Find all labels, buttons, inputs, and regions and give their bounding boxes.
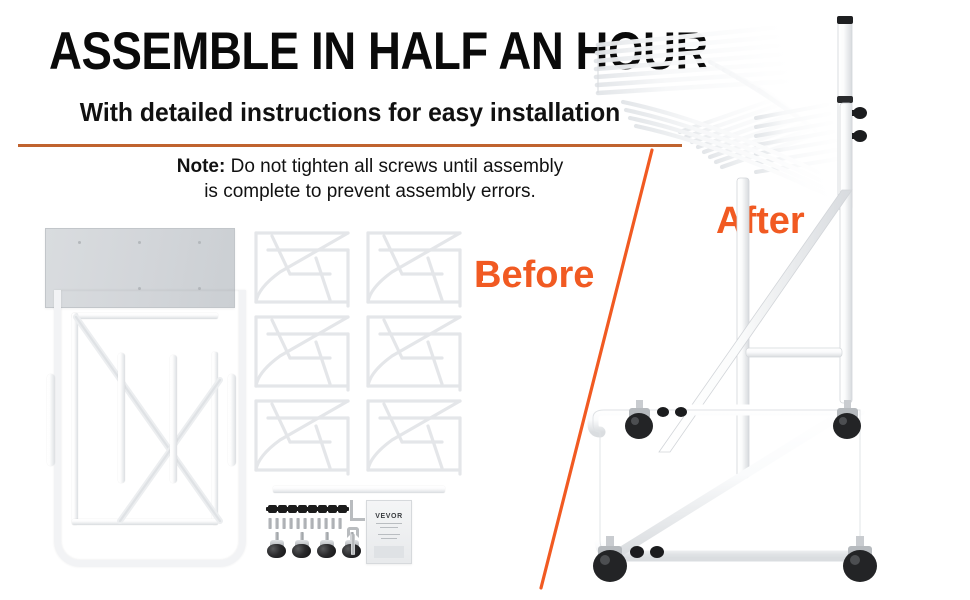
hardware-caster (291, 532, 313, 558)
part-rack-divider (362, 312, 466, 394)
hardware-caster (266, 532, 288, 558)
part-cross-rail (273, 486, 445, 493)
tube-shelf-array (596, 27, 844, 197)
hardware-caster (316, 532, 338, 558)
post-joint (837, 96, 853, 103)
manual-brand-logo: VEVOR (367, 513, 411, 520)
part-inner-post-right (170, 355, 177, 483)
part-rack-divider (362, 396, 466, 478)
part-rack-divider (250, 228, 354, 310)
part-diagonal-braces (60, 305, 240, 535)
adjustment-knob-upper (852, 107, 867, 119)
product-marketing-banner: ASSEMBLE IN HALF AN HOUR With detailed i… (0, 0, 970, 600)
part-rack-divider (250, 396, 354, 478)
orange-tick-marker (478, 265, 483, 281)
mid-cross-rail (746, 348, 842, 357)
post-cap-top (837, 16, 853, 24)
adjustment-knob-lower (852, 130, 867, 142)
hardware-wrench (347, 527, 359, 555)
assembly-note-line-1: Do not tighten all screws until assembly (225, 156, 563, 177)
hardware-nuts-row (268, 505, 342, 515)
part-side-rail-right (228, 374, 236, 466)
part-rack-divider (250, 312, 354, 394)
base-caster-front-right (843, 536, 877, 582)
hardware-bolts-row (268, 518, 342, 530)
assembly-note-label: Note: (177, 156, 226, 177)
hardware-allen-key (350, 500, 365, 521)
assembled-drying-rack (560, 0, 970, 600)
part-inner-post-left (118, 353, 125, 483)
part-rack-divider (362, 228, 466, 310)
instruction-manual: VEVOR (366, 500, 412, 564)
part-side-rail-left (47, 374, 55, 466)
